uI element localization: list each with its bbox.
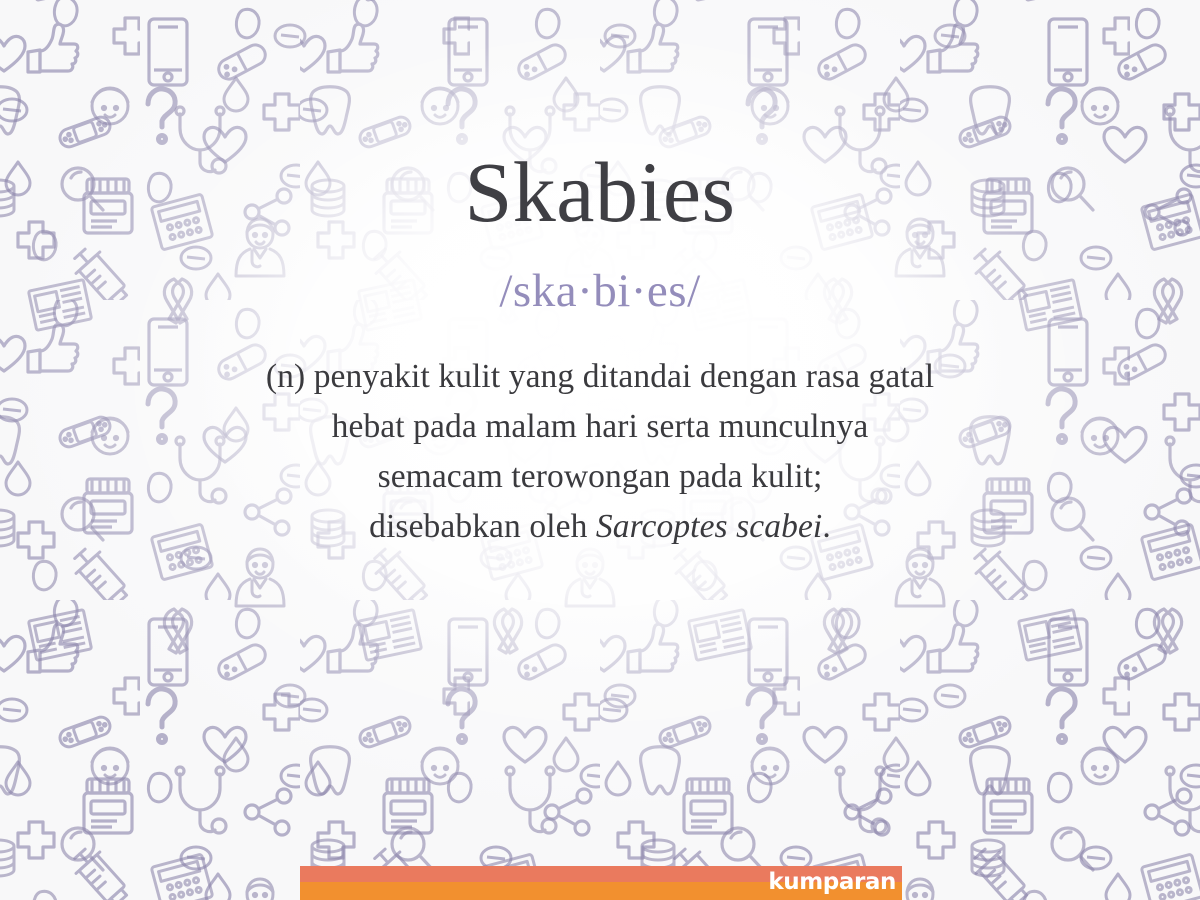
pronunciation-text: /ska·bi·es/ xyxy=(0,268,1200,315)
definition-content: Skabies /ska·bi·es/ (n) penyakit kulit y… xyxy=(0,0,1200,900)
definition-line-4: disebabkan oleh Sarcoptes scabei. xyxy=(0,502,1200,552)
definition-text: (n) penyakit kulit yang ditandai dengan … xyxy=(0,352,1200,552)
definition-line-3: semacam terowongan pada kulit; xyxy=(0,452,1200,502)
kumparan-logo[interactable]: kumparan xyxy=(768,869,896,895)
definition-line-1: (n) penyakit kulit yang ditandai dengan … xyxy=(0,352,1200,402)
definition-line-4-suffix: . xyxy=(822,508,830,545)
definition-card: Skabies /ska·bi·es/ (n) penyakit kulit y… xyxy=(0,0,1200,900)
scientific-name: Sarcoptes scabei xyxy=(596,508,822,545)
word-title: Skabies xyxy=(0,149,1200,235)
definition-line-4-prefix: disebabkan oleh xyxy=(369,508,596,545)
definition-line-2: hebat pada malam hari serta munculnya xyxy=(0,402,1200,452)
brand-banner: kumparan xyxy=(300,866,902,900)
